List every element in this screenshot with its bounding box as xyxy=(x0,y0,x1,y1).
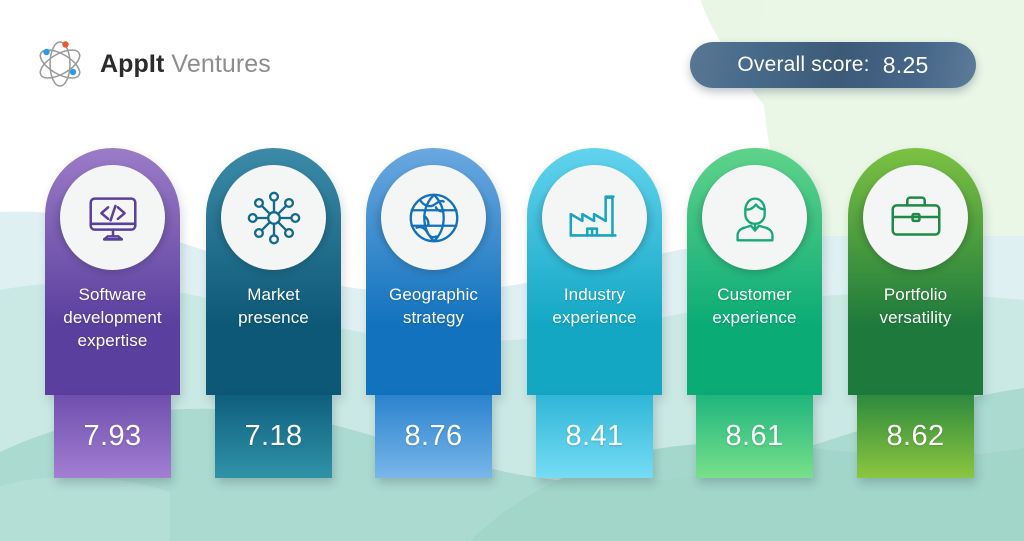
pillar-score-box: 8.41 xyxy=(536,395,653,478)
pillar-icon-circle xyxy=(702,165,807,270)
infographic-canvas: AppIt Ventures Overall score: 8.25 Softw… xyxy=(0,0,1024,541)
pillar-label: Geographicstrategy xyxy=(371,283,496,329)
pillar-score-box: 8.76 xyxy=(375,395,492,478)
pillar-icon-circle xyxy=(863,165,968,270)
pillar-icon-circle xyxy=(542,165,647,270)
pillar-score-value: 7.18 xyxy=(244,420,302,453)
briefcase-icon xyxy=(885,187,947,249)
code-monitor-icon xyxy=(82,187,144,249)
score-pillar-software-development-expertise[interactable]: Softwaredevelopmentexpertise 7.93 xyxy=(45,148,180,395)
pillar-score-box: 7.93 xyxy=(54,395,171,478)
pillar-score-value: 7.93 xyxy=(83,420,141,453)
pillar-score-value: 8.76 xyxy=(404,420,462,453)
pillar-icon-circle xyxy=(60,165,165,270)
pillar-score-value: 8.62 xyxy=(886,420,944,453)
pillar-score-value: 8.41 xyxy=(565,420,623,453)
pillar-label: Softwaredevelopmentexpertise xyxy=(50,283,175,352)
support-agent-icon xyxy=(724,187,786,249)
score-pillar-geographic-strategy[interactable]: Geographicstrategy 8.76 xyxy=(366,148,501,395)
pillar-score-box: 8.62 xyxy=(857,395,974,478)
pillar-score-box: 7.18 xyxy=(215,395,332,478)
pillar-label: Portfolioversatility xyxy=(853,283,978,329)
pillar-label: Customerexperience xyxy=(692,283,817,329)
pillar-label: Marketpresence xyxy=(211,283,336,329)
pillar-score-box: 8.61 xyxy=(696,395,813,478)
globe-icon xyxy=(403,187,465,249)
factory-icon xyxy=(564,187,626,249)
score-pillar-market-presence[interactable]: Marketpresence 7.18 xyxy=(206,148,341,395)
network-hub-icon xyxy=(243,187,305,249)
score-pillar-portfolio-versatility[interactable]: Portfolioversatility 8.62 xyxy=(848,148,983,395)
pillar-score-value: 8.61 xyxy=(725,420,783,453)
pillar-icon-circle xyxy=(221,165,326,270)
pillar-icon-circle xyxy=(381,165,486,270)
score-pillar-customer-experience[interactable]: Customerexperience 8.61 xyxy=(687,148,822,395)
score-pillar-group: Softwaredevelopmentexpertise 7.93Marketp… xyxy=(0,0,1024,541)
score-pillar-industry-experience[interactable]: Industryexperience 8.41 xyxy=(527,148,662,395)
pillar-label: Industryexperience xyxy=(532,283,657,329)
